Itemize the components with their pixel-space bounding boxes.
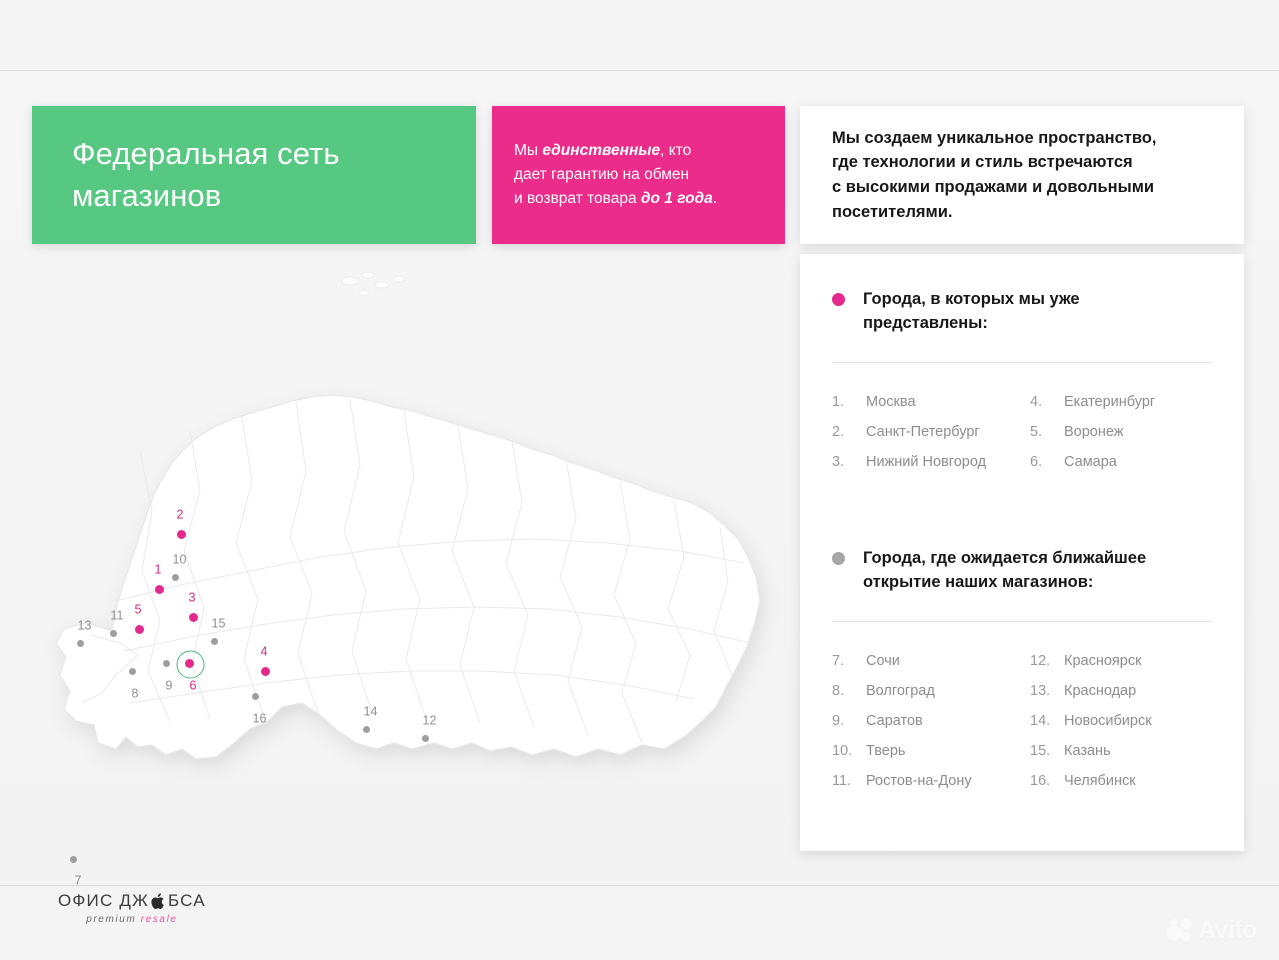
city-number: 15. [1030, 736, 1064, 766]
map-marker-label: 9 [166, 679, 173, 693]
apple-icon-svg [151, 893, 166, 910]
legend-spacer [800, 477, 1244, 513]
city-list-item: 11.Ростов-на-Дону [832, 766, 1014, 796]
pink-guarantee-text: Мы единственные, кто дает гарантию на об… [492, 139, 717, 211]
map-marker-3: 3 [193, 617, 194, 618]
russia-map: 12345678910111213141516 [20, 251, 780, 811]
map-marker-11: 11 [113, 633, 114, 634]
apple-icon [151, 893, 166, 910]
map-marker-label: 16 [253, 712, 267, 726]
map-marker-label: 12 [423, 714, 437, 728]
city-name: Воронеж [1064, 417, 1123, 447]
pink-l3-emphasis: до 1 года [641, 190, 713, 207]
city-list-item: 16.Челябинск [1030, 766, 1212, 796]
city-list-item: 15.Казань [1030, 736, 1212, 766]
city-number: 9. [832, 706, 866, 736]
city-list-item: 8.Волгоград [832, 676, 1014, 706]
city-name: Саратов [866, 706, 923, 736]
russia-map-svg [20, 251, 780, 811]
map-marker-1: 1 [159, 589, 160, 590]
city-list-item: 4.Екатеринбург [1030, 387, 1212, 417]
map-marker-label: 10 [173, 553, 187, 567]
map-islands [342, 272, 404, 296]
slide-root: Федеральная сеть магазинов Мы единственн… [0, 0, 1279, 960]
city-name: Ростов-на-Дону [866, 766, 972, 796]
intro-line-4: посетителями. [832, 200, 1156, 225]
map-marker-label: 8 [132, 687, 139, 701]
logo-wordmark: ОФИС ДЖ БСА [58, 891, 206, 911]
legend-soon-title: Города, где ожидается ближайшее открытие… [863, 547, 1193, 595]
city-name: Казань [1064, 736, 1111, 766]
green-title-text: Федеральная сеть магазинов [32, 133, 340, 217]
city-list-item: 10.Тверь [832, 736, 1014, 766]
intro-card: Мы создаем уникальное пространство, где … [800, 106, 1244, 244]
map-marker-dot [211, 638, 218, 645]
map-marker-16: 16 [255, 696, 256, 697]
legend-active-header: Города, в которых мы уже представлены: [832, 288, 1212, 336]
map-marker-label: 13 [78, 619, 92, 633]
avito-watermark-text: Avito [1198, 916, 1257, 945]
cities-active-list: 1.Москва4.Екатеринбург2.Санкт-Петербург5… [800, 363, 1244, 477]
city-name: Тверь [866, 736, 905, 766]
map-marker-label: 2 [177, 508, 184, 522]
map-marker-9: 9 [166, 663, 167, 664]
map-marker-label: 7 [75, 874, 82, 888]
logo-text-part-2: БСА [168, 891, 206, 911]
city-number: 11. [832, 766, 866, 796]
map-marker-14: 14 [366, 729, 367, 730]
map-marker-dot [363, 726, 370, 733]
map-marker-label: 4 [261, 645, 268, 659]
city-number: 12. [1030, 646, 1064, 676]
city-number: 3. [832, 447, 866, 477]
city-list-item: 2.Санкт-Петербург [832, 417, 1014, 447]
city-number: 1. [832, 387, 866, 417]
map-marker-7: 7 [73, 859, 74, 860]
intro-line-1: Мы создаем уникальное пространство, [832, 126, 1156, 151]
city-number: 13. [1030, 676, 1064, 706]
city-name: Красноярск [1064, 646, 1141, 676]
city-list-item: 3.Нижний Новгород [832, 447, 1014, 477]
map-marker-dot [189, 613, 198, 622]
city-list-item: 5.Воронеж [1030, 417, 1212, 447]
map-marker-4: 4 [265, 671, 266, 672]
map-marker-dot [70, 856, 77, 863]
city-list-item: 1.Москва [832, 387, 1014, 417]
map-marker-dot [261, 667, 270, 676]
city-number: 5. [1030, 417, 1064, 447]
city-number: 2. [832, 417, 866, 447]
map-marker-label: 6 [190, 679, 197, 693]
city-number: 7. [832, 646, 866, 676]
city-number: 4. [1030, 387, 1064, 417]
green-title-banner: Федеральная сеть магазинов [32, 106, 476, 244]
avito-watermark: Avito [1166, 916, 1257, 945]
map-marker-label: 3 [189, 591, 196, 605]
pink-l3-b: . [713, 190, 717, 207]
city-name: Челябинск [1064, 766, 1136, 796]
map-marker-label: 15 [212, 617, 226, 631]
city-name: Сочи [866, 646, 900, 676]
city-list-item: 6.Самара [1030, 447, 1212, 477]
map-marker-dot [172, 574, 179, 581]
city-list-item: 12.Красноярск [1030, 646, 1212, 676]
legend-active-title: Города, в которых мы уже представлены: [863, 288, 1193, 336]
map-marker-6: 6 [189, 663, 190, 664]
map-marker-label: 5 [135, 603, 142, 617]
map-marker-5: 5 [139, 629, 140, 630]
city-name: Волгоград [866, 676, 935, 706]
green-title-line-1: Федеральная сеть [72, 133, 340, 175]
pink-guarantee-banner: Мы единственные, кто дает гарантию на об… [492, 106, 785, 244]
pink-line-3: и возврат товара до 1 года. [514, 187, 717, 211]
map-marker-dot [163, 660, 170, 667]
map-marker-15: 15 [214, 641, 215, 642]
map-marker-dot [155, 585, 164, 594]
map-marker-2: 2 [181, 534, 182, 535]
brand-logo: ОФИС ДЖ БСА premium resale [58, 891, 206, 925]
city-number: 6. [1030, 447, 1064, 477]
pink-line-2: дает гарантию на обмен [514, 163, 717, 187]
intro-text: Мы создаем уникальное пространство, где … [800, 126, 1184, 225]
logo-text-part-1: ОФИС ДЖ [58, 891, 149, 911]
logo-tagline: premium resale [58, 914, 206, 925]
legend-soon-block: Города, где ожидается ближайшее открытие… [800, 513, 1244, 595]
cities-card: Города, в которых мы уже представлены: 1… [800, 254, 1244, 851]
pink-l3-a: и возврат товара [514, 190, 641, 207]
map-marker-label: 11 [111, 609, 124, 623]
city-name: Москва [866, 387, 916, 417]
city-list-item: 7.Сочи [832, 646, 1014, 676]
map-landmass [56, 395, 760, 759]
city-number: 16. [1030, 766, 1064, 796]
map-marker-dot [185, 659, 194, 668]
legend-active-block: Города, в которых мы уже представлены: [800, 254, 1244, 336]
city-name: Нижний Новгород [866, 447, 986, 477]
city-list-item: 13.Краснодар [1030, 676, 1212, 706]
legend-soon-header: Города, где ожидается ближайшее открытие… [832, 547, 1212, 595]
cities-soon-list: 7.Сочи12.Красноярск8.Волгоград13.Краснод… [800, 622, 1244, 796]
map-marker-label: 1 [155, 563, 162, 577]
avito-logo-icon [1166, 918, 1193, 943]
city-name: Самара [1064, 447, 1117, 477]
intro-line-2: где технологии и стиль встречаются [832, 150, 1156, 175]
grey-dot-icon [832, 552, 845, 565]
pink-dot-icon [832, 293, 845, 306]
city-number: 14. [1030, 706, 1064, 736]
logo-tagline-premium: premium [86, 914, 136, 925]
map-marker-dot [135, 625, 144, 634]
map-marker-dot [422, 735, 429, 742]
city-name: Санкт-Петербург [866, 417, 980, 447]
city-name: Новосибирск [1064, 706, 1152, 736]
intro-line-3: с высокими продажами и довольными [832, 175, 1156, 200]
pink-l1-emphasis: единственные [542, 142, 660, 159]
pink-l1-a: Мы [514, 142, 542, 159]
city-list-item: 9.Саратов [832, 706, 1014, 736]
map-marker-13: 13 [80, 643, 81, 644]
map-marker-10: 10 [175, 577, 176, 578]
map-marker-dot [77, 640, 84, 647]
pink-l1-b: , кто [660, 142, 691, 159]
pink-line-1: Мы единственные, кто [514, 139, 717, 163]
city-number: 10. [832, 736, 866, 766]
map-marker-8: 8 [132, 671, 133, 672]
city-name: Краснодар [1064, 676, 1136, 706]
city-list-item: 14.Новосибирск [1030, 706, 1212, 736]
bottom-divider [0, 885, 1279, 886]
green-title-line-2: магазинов [72, 175, 340, 217]
map-marker-dot [129, 668, 136, 675]
city-name: Екатеринбург [1064, 387, 1155, 417]
slide-stage: Федеральная сеть магазинов Мы единственн… [0, 71, 1279, 885]
map-marker-dot [110, 630, 117, 637]
map-marker-label: 14 [364, 705, 378, 719]
map-marker-dot [177, 530, 186, 539]
map-marker-12: 12 [425, 738, 426, 739]
city-number: 8. [832, 676, 866, 706]
logo-tagline-resale: resale [141, 914, 178, 925]
map-marker-dot [252, 693, 259, 700]
